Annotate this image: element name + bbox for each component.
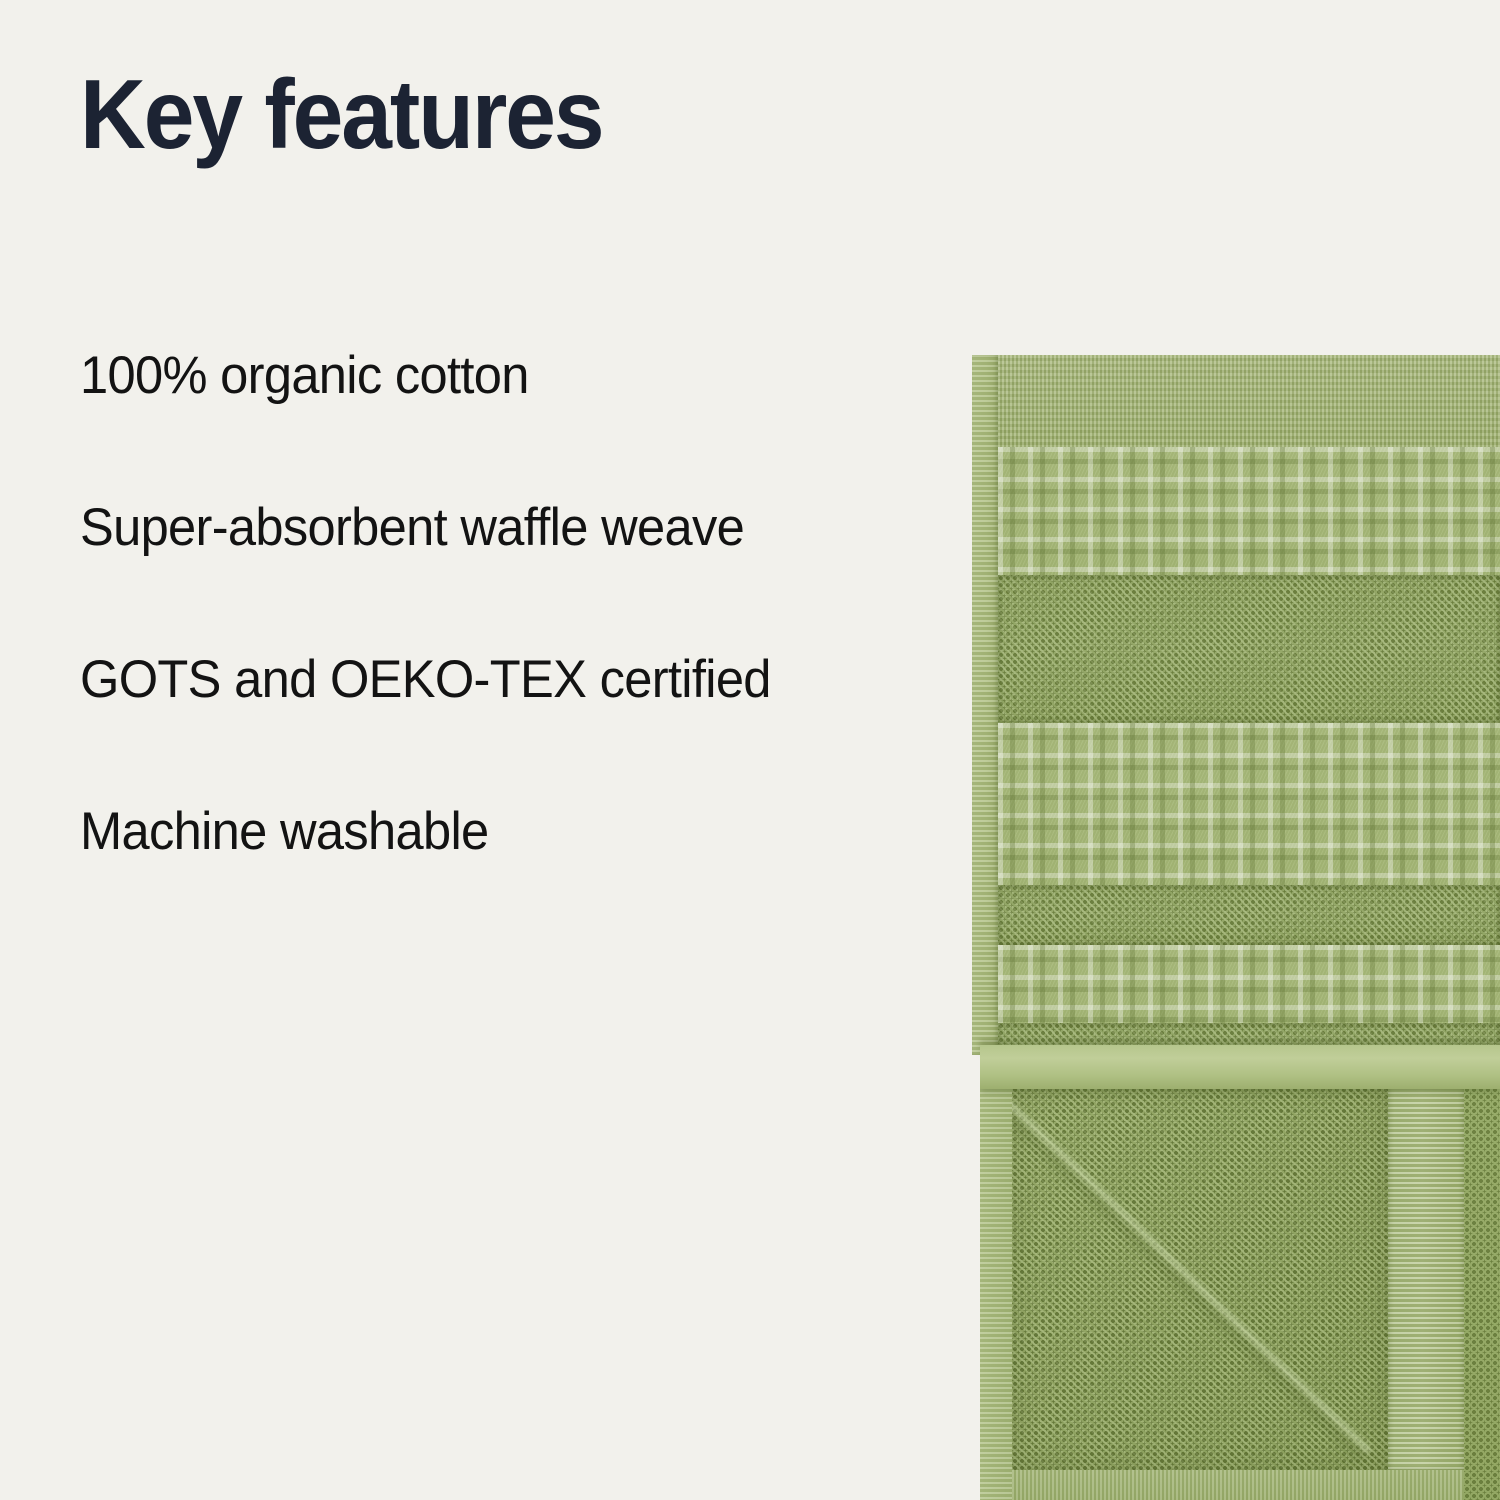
folded-towel-top-lip: [980, 1045, 1500, 1089]
folded-towel-right-rib-band: [1388, 1087, 1464, 1470]
feature-list-item: GOTS and OEKO-TEX certified: [80, 649, 920, 801]
product-feature-panel: Key features 100% organic cotton Super-a…: [0, 0, 1500, 1500]
feature-list: 100% organic cotton Super-absorbent waff…: [80, 345, 960, 953]
towel-folded-panel: [980, 1045, 1500, 1500]
towel-waffle-band: [998, 723, 1500, 885]
towel-flat-panel: [972, 355, 1500, 1055]
feature-list-item: 100% organic cotton: [80, 345, 920, 497]
towel-terry-stripe: [998, 575, 1500, 723]
towel-waffle-band: [998, 447, 1500, 575]
feature-list-item: Machine washable: [80, 801, 920, 953]
folded-towel-bottom-hem: [1012, 1470, 1464, 1500]
folded-towel-terry-face: [1012, 1087, 1388, 1470]
towel-terry-stripe: [998, 885, 1500, 945]
towel-top-hem-band: [998, 355, 1500, 447]
towel-waffle-band: [998, 945, 1500, 1023]
diagonal-fold-crease: [980, 1056, 1373, 1455]
feature-list-item: Super-absorbent waffle weave: [80, 497, 920, 649]
towel-left-selvedge: [972, 355, 998, 1055]
product-image: [960, 0, 1500, 1500]
folded-towel-left-hem: [980, 1087, 1012, 1500]
feature-text-column: Key features 100% organic cotton Super-a…: [80, 0, 960, 1500]
folded-towel-right-edge: [1464, 1087, 1500, 1500]
page-title: Key features: [80, 62, 603, 166]
